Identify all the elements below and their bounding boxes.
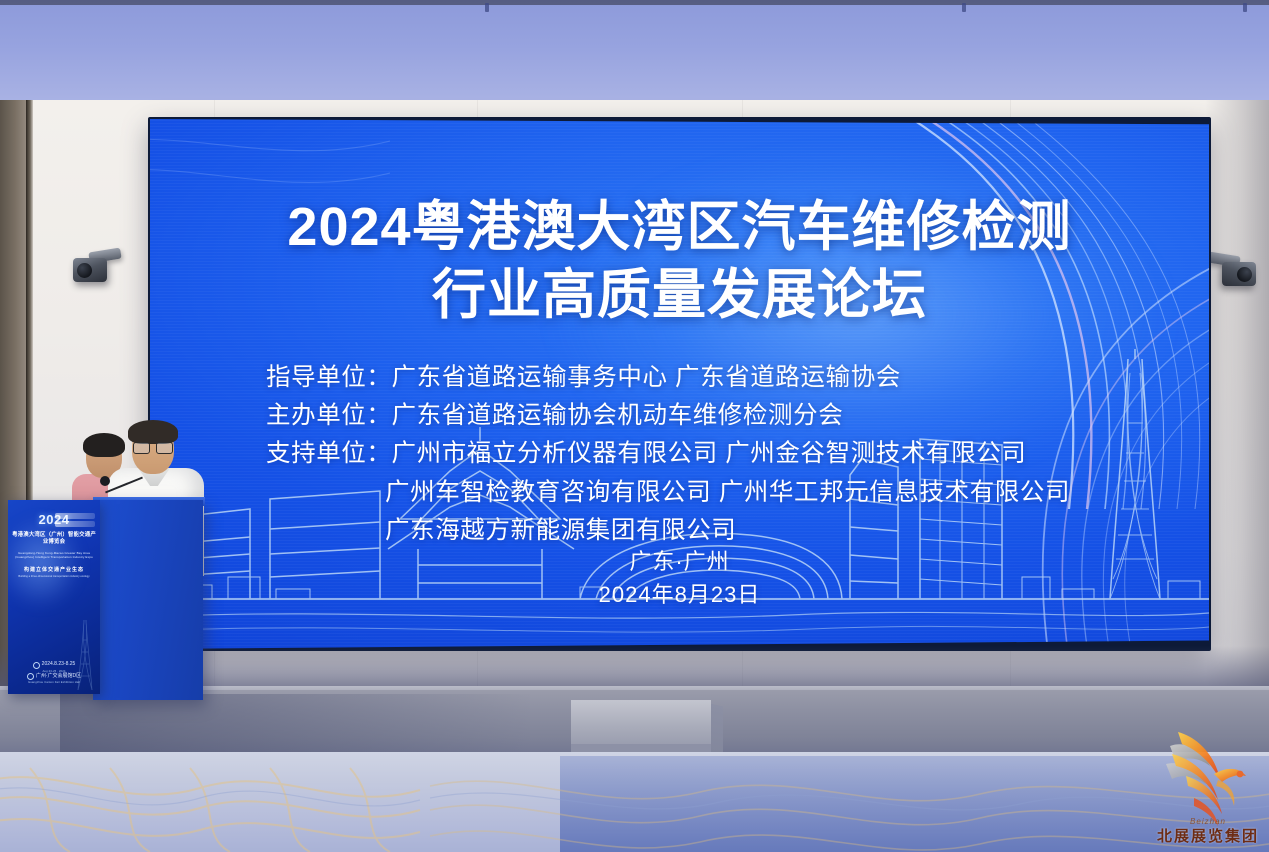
ceiling-rail: [0, 0, 1269, 5]
screen-footer: 广东·广州 2024年8月23日: [150, 545, 1209, 612]
screen-body-text: 指导单位：广东省道路运输事务中心 广东省道路运输协会 主办单位：广东省道路运输协…: [266, 359, 1096, 550]
clock-icon: [33, 662, 40, 669]
body-line-support-1: 支持单位：广州市福立分析仪器有限公司 广州金谷智测技术有限公司: [266, 435, 1096, 473]
podium-sign-info: 2024.8.23-8.25 Aug 23-25 , 2024 广州·广交会展馆…: [14, 661, 94, 684]
podium-sign-tagline-en: Building a three-dimensional transportat…: [10, 575, 98, 578]
spotlight-icon: [1204, 250, 1266, 294]
spotlight-icon: [63, 246, 125, 290]
glasses-icon: [133, 442, 173, 452]
screen-title: 2024粤港澳大湾区汽车维修检测 行业高质量发展论坛: [150, 193, 1209, 329]
podium: [93, 500, 203, 700]
stage-shadow: [60, 694, 530, 752]
ceiling: [0, 0, 1269, 104]
watermark: Beizhan 北展展览集团: [1152, 724, 1264, 848]
location-pin-icon: [27, 673, 34, 680]
podium-sign-venue-en: Guangzhou Canton Fair Exhibition Hall: [14, 680, 94, 684]
led-screen: 2024粤港澳大湾区汽车维修检测 行业高质量发展论坛 指导单位：广东省道路运输事…: [150, 119, 1209, 649]
ceiling-peg: [962, 3, 966, 12]
watermark-brand-cn: 北展展览集团: [1152, 825, 1264, 846]
podium-sign-badges: [55, 513, 95, 529]
podium-sign-headline: 粤港澳大湾区（广州）智能交通产业博览会: [10, 532, 98, 546]
podium-sign-date: 2024.8.23-8.25: [42, 661, 76, 668]
podium-sign-venue: 广州·广交会展馆D区: [36, 673, 81, 680]
body-line-guidance: 指导单位：广东省道路运输事务中心 广东省道路运输协会: [266, 359, 1096, 397]
podium-sign-headline-en: Guangdong-Hong Kong-Macao Greater Bay Ar…: [10, 552, 98, 559]
screen-title-line1: 2024粤港澳大湾区汽车维修检测: [287, 197, 1071, 257]
wall-right-shadow: [1205, 100, 1269, 740]
footer-location: 广东·广州: [150, 545, 1209, 578]
screen-title-line2: 行业高质量发展论坛: [150, 261, 1209, 329]
screenshot-root: 2024粤港澳大湾区汽车维修检测 行业高质量发展论坛 指导单位：广东省道路运输事…: [0, 0, 1269, 852]
ceiling-peg: [485, 3, 489, 12]
body-line-support-2: 广州车智检教育咨询有限公司 广州华工邦元信息技术有限公司: [266, 474, 1096, 512]
podium-sign: 2024 粤港澳大湾区（广州）智能交通产业博览会 Guangdong-Hong …: [8, 500, 100, 694]
body-line-organizer: 主办单位：广东省道路运输协会机动车维修检测分会: [266, 397, 1096, 435]
ceiling-peg: [1243, 3, 1247, 12]
podium-sign-tagline: 构建立体交通产业生态: [10, 566, 98, 573]
carpet-pattern: [0, 752, 1269, 852]
footer-date: 2024年8月23日: [150, 578, 1209, 611]
